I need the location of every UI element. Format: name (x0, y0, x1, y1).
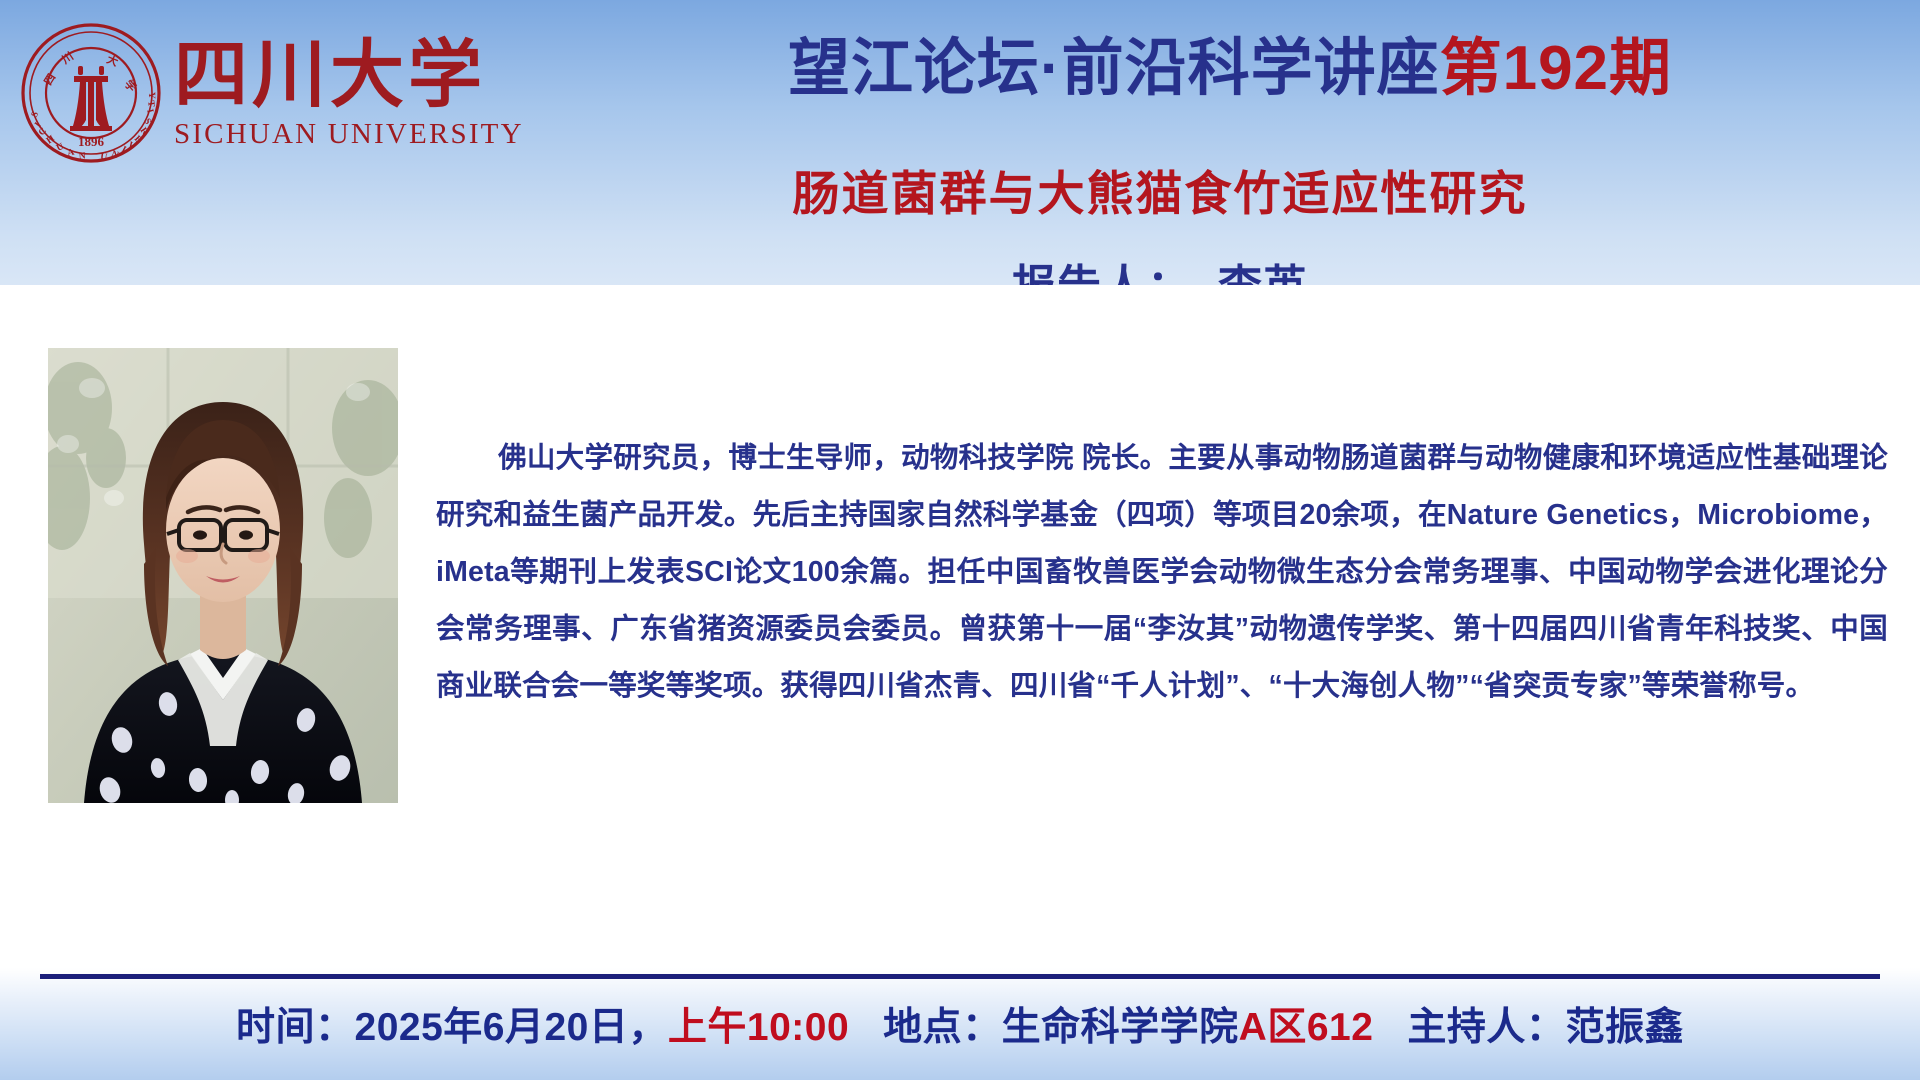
place-room: A区612 (1239, 1006, 1374, 1049)
university-logo: 四 川 大 学 S I C H U A N U (20, 22, 580, 182)
svg-text:四川大学: 四川大学 (174, 35, 486, 116)
svg-text:大: 大 (105, 52, 120, 69)
svg-text:Y: Y (146, 92, 156, 99)
speaker-bio: 佛山大学研究员，博士生导师，动物科技学院 院长。主要从事动物肠道菌群与动物健康和… (436, 430, 1888, 715)
speaker-photo (48, 348, 398, 803)
host-name: 范振鑫 (1565, 1006, 1684, 1049)
svg-text:A: A (66, 147, 75, 158)
footer-info: 时间：2025年6月20日，上午10:00地点：生命科学学院A区612主持人：范… (0, 996, 1920, 1052)
svg-text:I: I (144, 108, 155, 115)
poster-footer: 时间：2025年6月20日，上午10:00地点：生命科学学院A区612主持人：范… (0, 968, 1920, 1080)
lecture-title: 肠道菌群与大熊猫食竹适应性研究 (420, 165, 1900, 223)
poster-header: 四 川 大 学 S I C H U A N U (0, 0, 1920, 290)
university-name-en: SICHUAN UNIVERSITY (174, 118, 524, 151)
svg-text:U: U (100, 152, 109, 163)
time-date: 2025年6月20日， (355, 1006, 668, 1049)
series-title: 望江论坛·前沿科学讲座第192期 (560, 30, 1900, 108)
university-wordmark: 四川大学 SICHUAN UNIVERSITY (174, 22, 524, 151)
time-label: 时间： (236, 1006, 355, 1049)
svg-text:S: S (30, 110, 41, 120)
time-clock: 上午10:00 (668, 1006, 849, 1049)
lecture-poster: 四 川 大 学 S I C H U A N U (0, 0, 1920, 1080)
place-label: 地点： (883, 1006, 1002, 1049)
svg-text:N: N (110, 149, 120, 161)
series-title-main: 望江论坛·前沿科学讲座 (788, 34, 1440, 103)
svg-text:N: N (78, 151, 86, 162)
footer-divider (40, 974, 1880, 979)
sichuan-university-seal-icon: 四 川 大 学 S I C H U A N U (20, 22, 162, 164)
host-label: 主持人： (1407, 1006, 1565, 1049)
series-title-issue: 第192期 (1440, 34, 1672, 103)
university-name-cn-calligraphy: 四川大学 (174, 30, 524, 116)
seal-year: 1896 (78, 134, 105, 149)
svg-text:四: 四 (42, 71, 59, 87)
speaker-bio-text: 佛山大学研究员，博士生导师，动物科技学院 院长。主要从事动物肠道菌群与动物健康和… (436, 442, 1888, 702)
place-value: 生命科学学院 (1002, 1006, 1239, 1049)
